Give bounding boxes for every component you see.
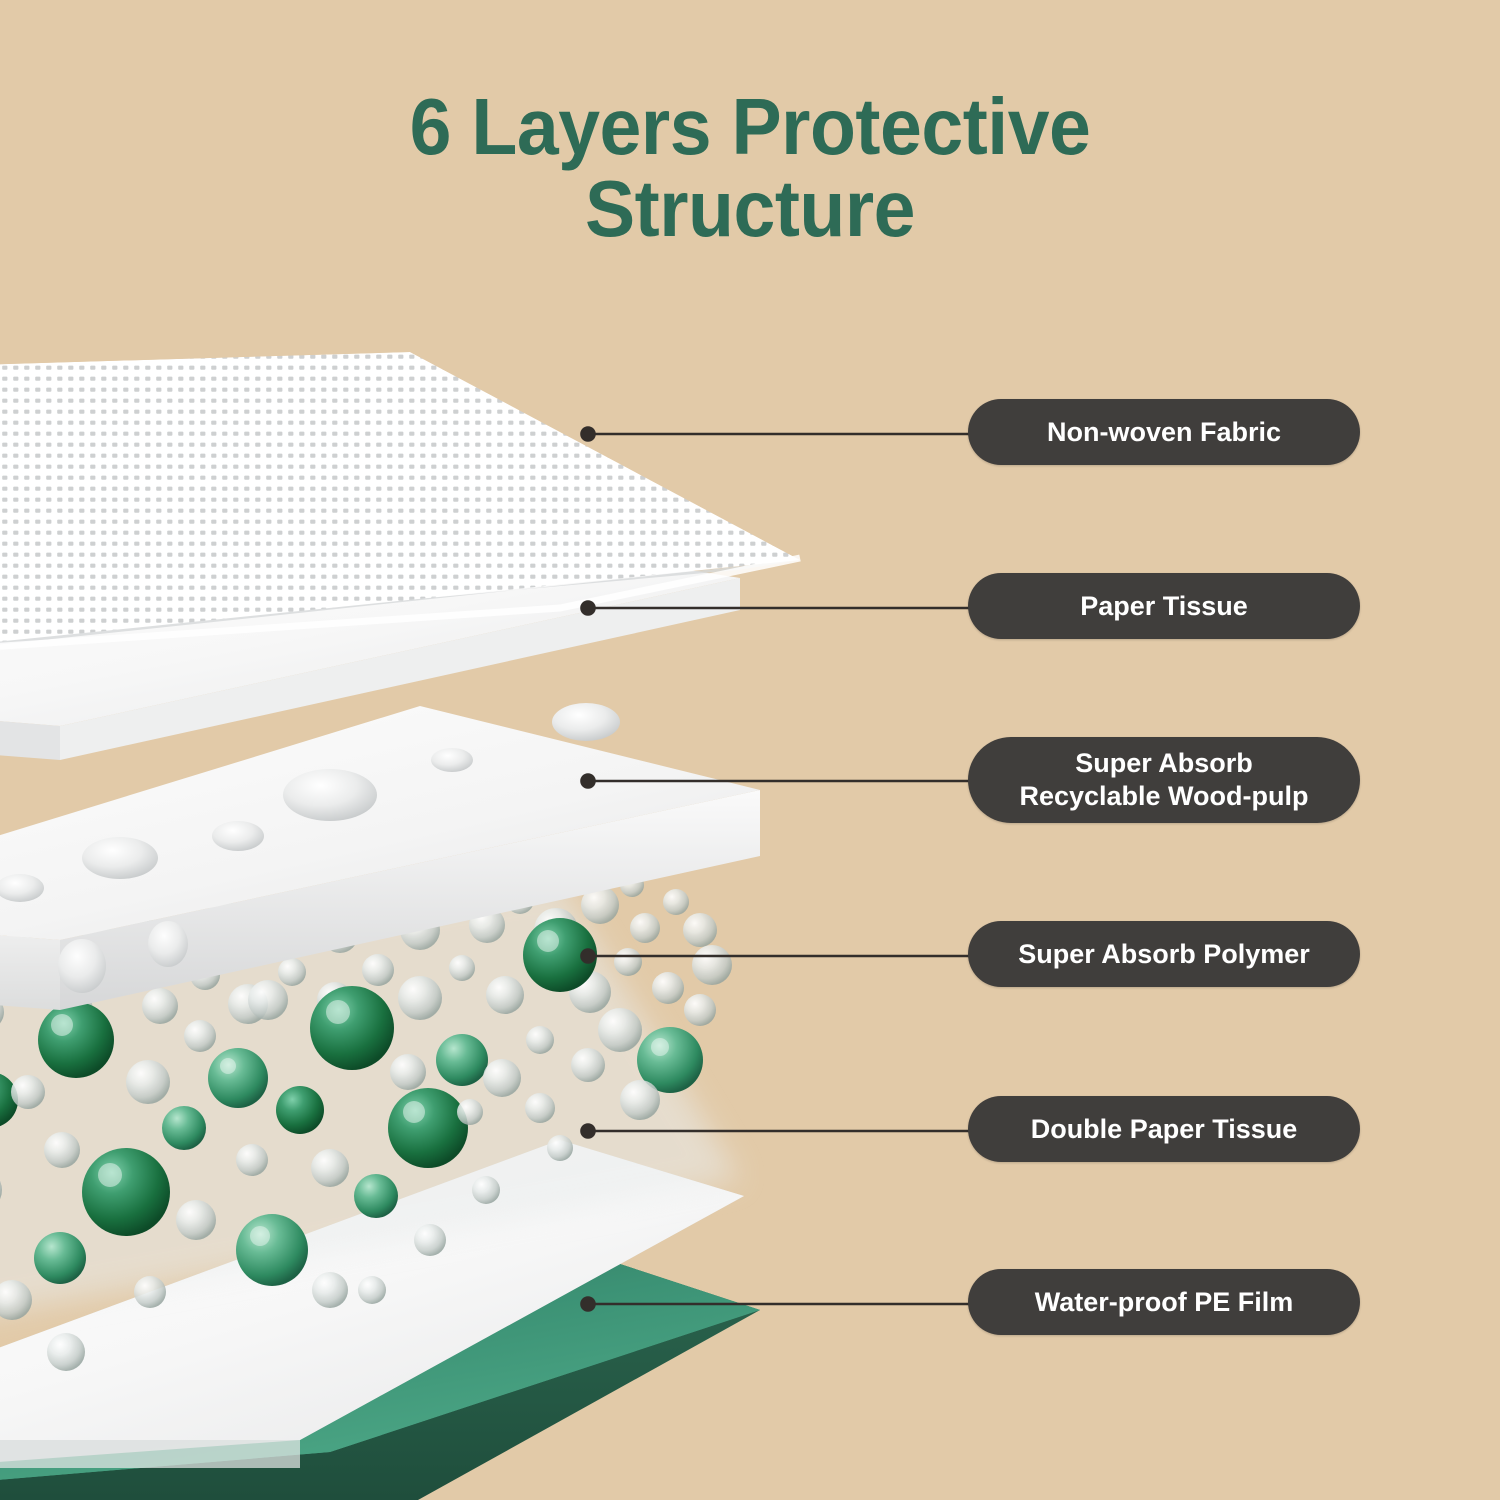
label-text: Super Absorb Polymer (1018, 938, 1310, 971)
leader-line-4 (582, 950, 1011, 963)
label-text: Non-woven Fabric (1047, 416, 1281, 449)
page-title: 6 Layers Protective Structure (0, 86, 1500, 250)
label-text: Double Paper Tissue (1031, 1113, 1298, 1146)
page-title-line-2: Structure (45, 168, 1455, 250)
label-text: Paper Tissue (1080, 590, 1248, 623)
label-non-woven-fabric: Non-woven Fabric (968, 399, 1360, 465)
leader-line-6 (582, 1298, 1011, 1311)
infographic-canvas: 6 Layers Protective Structure Non-woven … (0, 0, 1500, 1500)
leader-line-3 (582, 775, 1011, 788)
label-double-paper-tissue: Double Paper Tissue (968, 1096, 1360, 1162)
label-paper-tissue: Paper Tissue (968, 573, 1360, 639)
label-text: Water-proof PE Film (1035, 1286, 1294, 1319)
leader-line-5 (582, 1125, 1011, 1138)
label-super-absorb-recyclable-wood-pulp: Super Absorb Recyclable Wood-pulp (968, 737, 1360, 823)
page-title-line-1: 6 Layers Protective (45, 86, 1455, 168)
label-text: Super Absorb Recyclable Wood-pulp (1019, 747, 1308, 813)
label-water-proof-pe-film: Water-proof PE Film (968, 1269, 1360, 1335)
leader-line-1 (582, 428, 1011, 441)
leader-line-2 (582, 602, 1011, 615)
label-super-absorb-polymer: Super Absorb Polymer (968, 921, 1360, 987)
